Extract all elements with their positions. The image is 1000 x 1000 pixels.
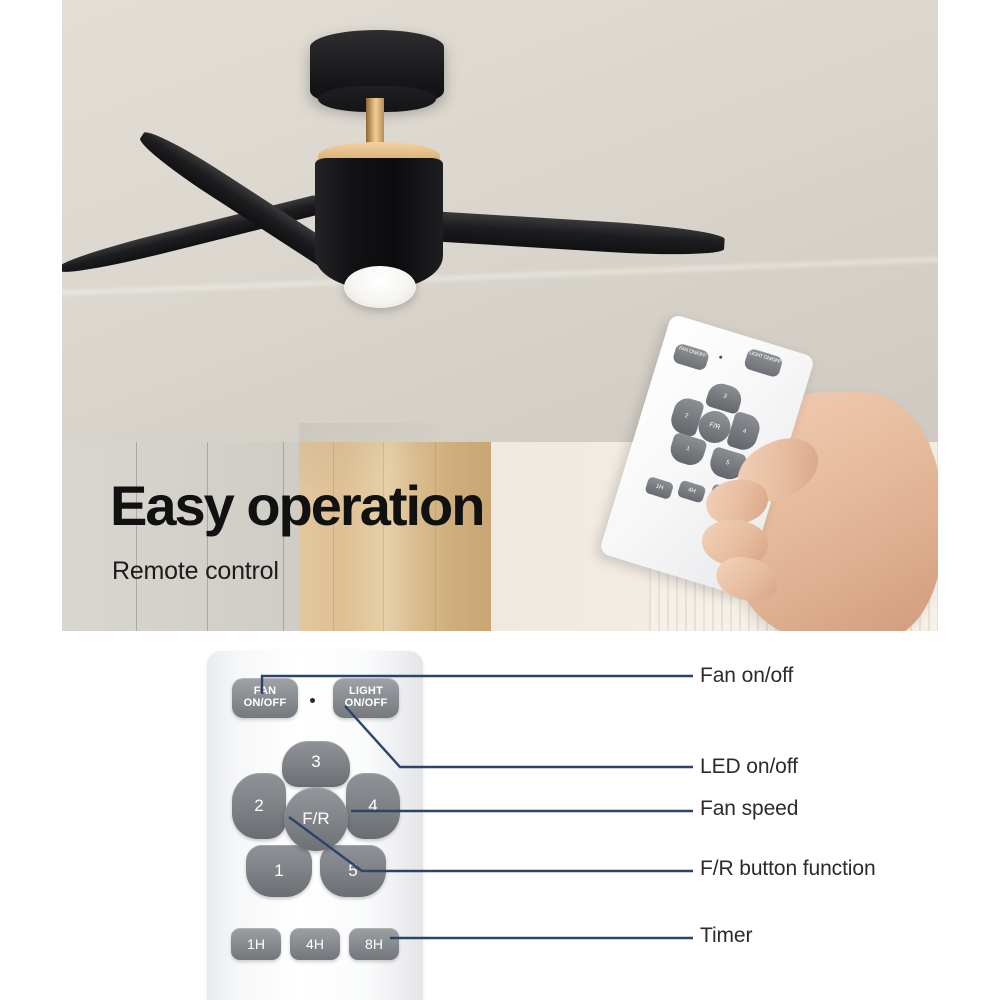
ceiling-fan xyxy=(262,12,522,332)
callout-leader-lines xyxy=(0,631,1000,1000)
photo-timer-4h: 4H xyxy=(677,480,707,504)
callout-fr-function: F/R button function xyxy=(700,857,876,881)
photo-light-button: LIGHT ON/OFF xyxy=(743,348,784,379)
photo-speed-3: 3 xyxy=(704,380,744,415)
photo-led-indicator xyxy=(719,355,723,359)
photo-fan-button: FAN ON/OFF xyxy=(672,342,710,371)
remote-diagram-panel: FAN ON/OFF LIGHT ON/OFF 3 2 4 1 5 F/R 1H… xyxy=(0,631,1000,1000)
hand-holding-remote: FAN ON/OFF LIGHT ON/OFF 3 2 4 1 5 F/R 1H… xyxy=(620,330,938,631)
callout-led-on-off: LED on/off xyxy=(700,755,798,779)
leader-led-on-off xyxy=(345,706,693,767)
fan-led-light xyxy=(344,266,416,308)
hero-headline: Easy operation xyxy=(110,478,483,534)
photo-timer-1h: 1H xyxy=(644,476,674,500)
hero-subheadline: Remote control xyxy=(112,557,279,586)
leader-fr-function xyxy=(289,817,693,871)
callout-fan-on-off: Fan on/off xyxy=(700,664,793,688)
photo-speed-4: 4 xyxy=(726,411,763,454)
callout-timer: Timer xyxy=(700,924,752,948)
leader-fan-on-off xyxy=(262,676,693,694)
callout-fan-speed: Fan speed xyxy=(700,797,798,821)
hero-photo: FAN ON/OFF LIGHT ON/OFF 3 2 4 1 5 F/R 1H… xyxy=(62,0,938,631)
